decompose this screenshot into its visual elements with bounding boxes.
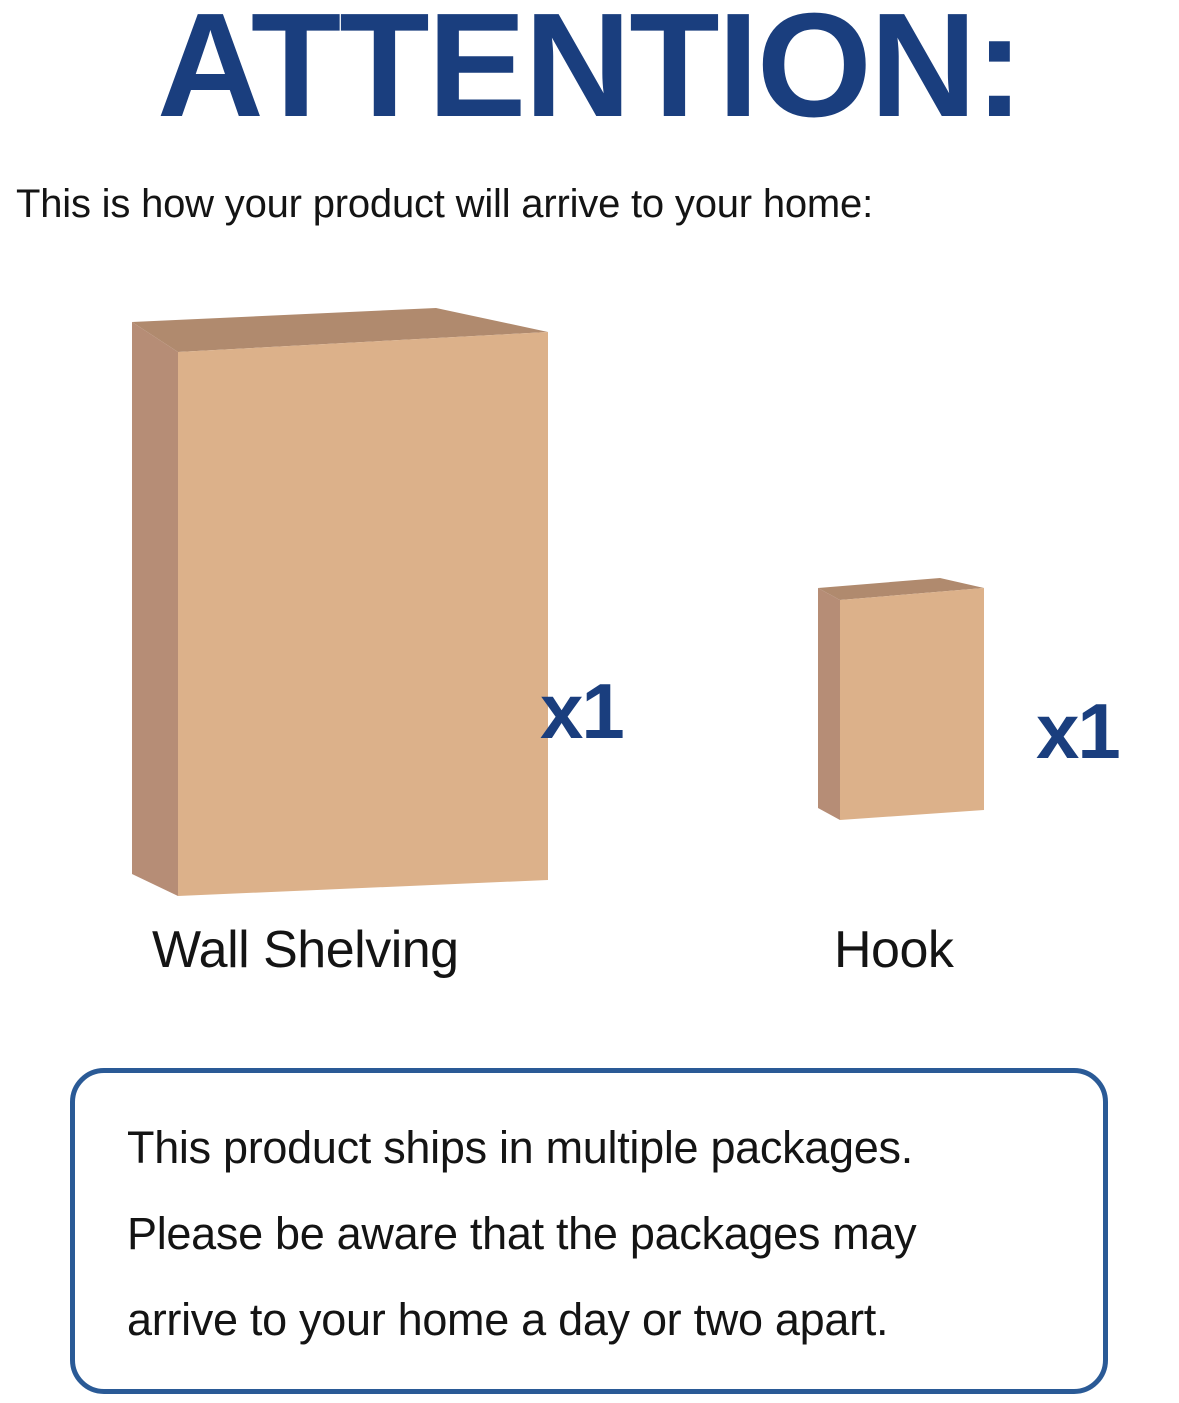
package-label-wall-shelving: Wall Shelving — [152, 920, 459, 980]
attention-shipping-notice-graphic: ATTENTION: This is how your product will… — [0, 0, 1179, 1403]
box-side-face — [132, 322, 178, 896]
package-box-wall-shelving — [118, 308, 548, 908]
packages-group: x1 Wall Shelving x1 Hook — [0, 0, 1179, 1030]
box-front-face — [178, 332, 548, 896]
notice-line-2: Please be aware that the packages may — [127, 1191, 1077, 1277]
package-count-hook: x1 — [1036, 692, 1119, 770]
package-box-hook — [812, 578, 984, 826]
shipping-notice-text: This product ships in multiple packages.… — [127, 1105, 1077, 1363]
package-count-wall-shelving: x1 — [540, 672, 623, 750]
package-label-hook: Hook — [834, 920, 953, 980]
box-side-face — [818, 588, 840, 820]
notice-line-1: This product ships in multiple packages. — [127, 1105, 1077, 1191]
box-front-face — [840, 588, 984, 820]
shipping-notice-box: This product ships in multiple packages.… — [70, 1068, 1108, 1394]
notice-line-3: arrive to your home a day or two apart. — [127, 1277, 1077, 1363]
